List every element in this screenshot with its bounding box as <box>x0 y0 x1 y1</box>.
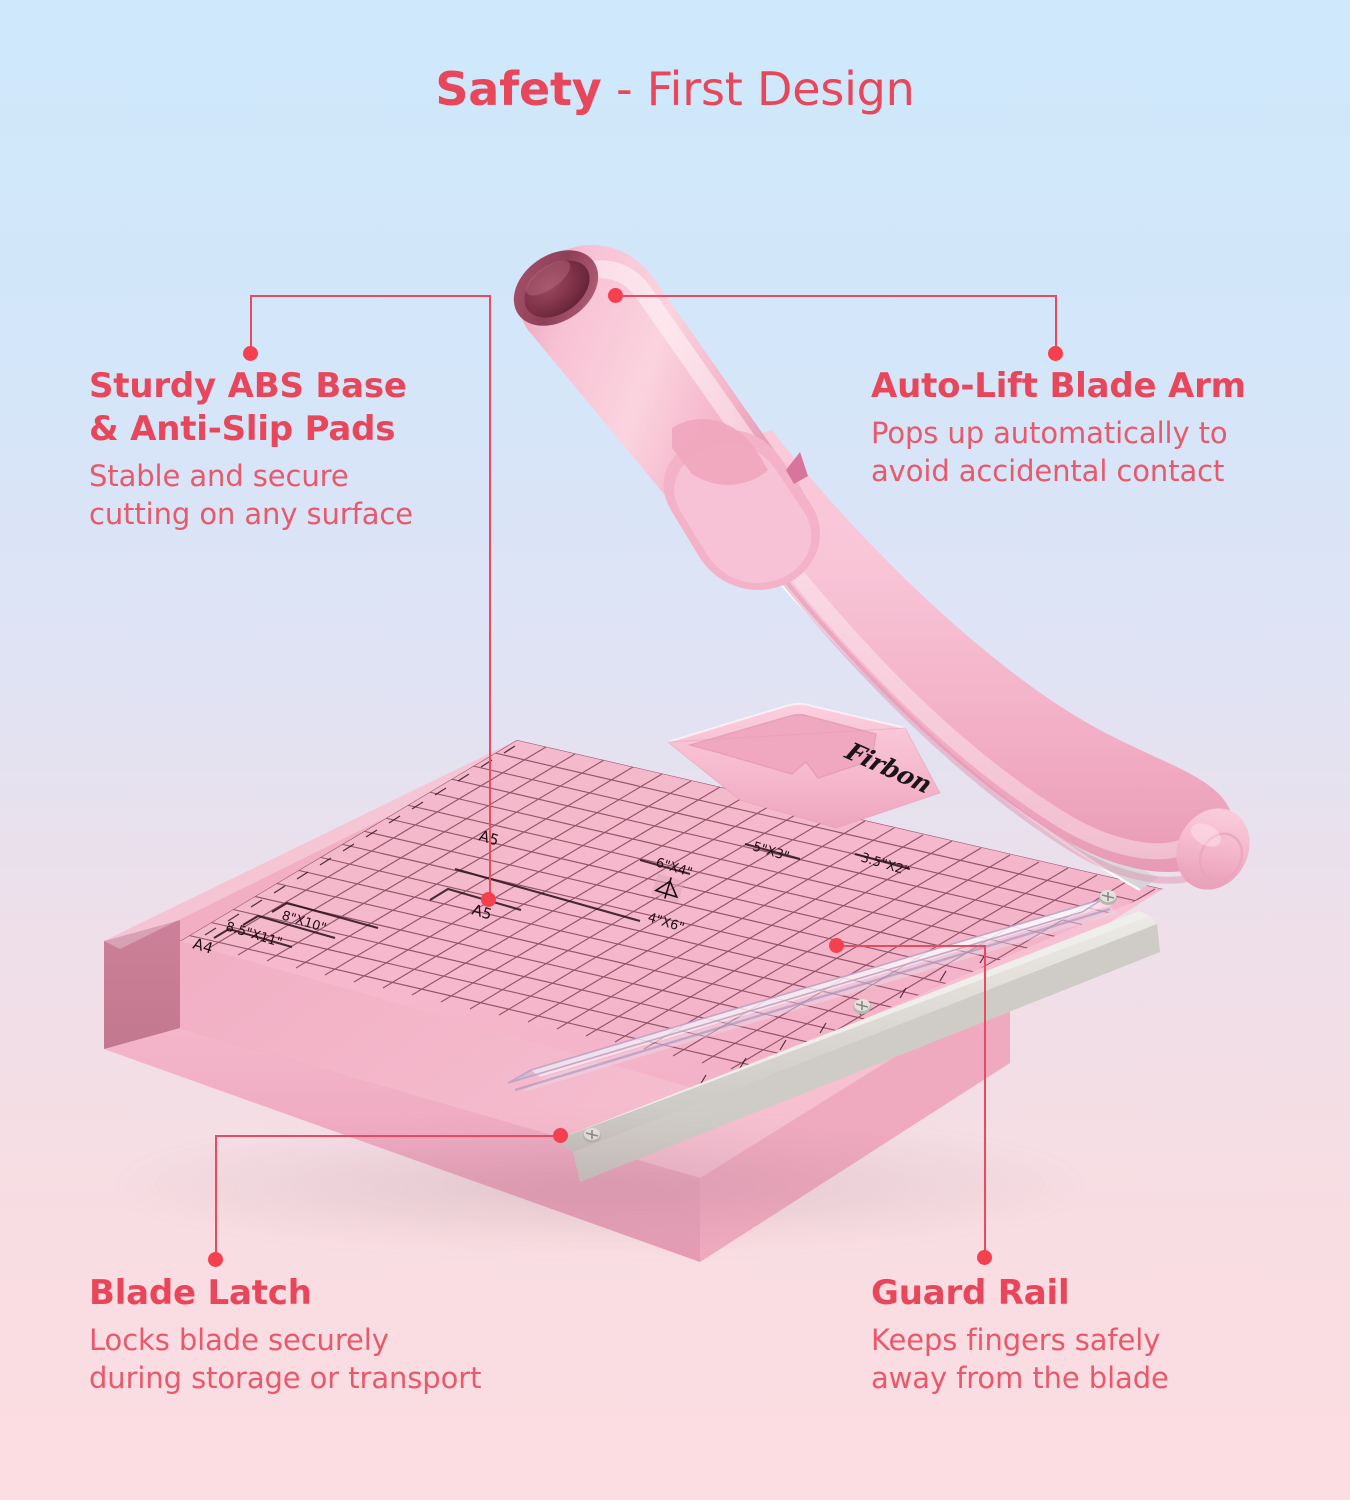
callout-dot-auto-lift-blade-arm <box>1048 346 1063 361</box>
callout-sturdy-abs-base: Sturdy ABS Base & Anti-Slip Pads Stable … <box>89 365 413 533</box>
product-shadow <box>120 1120 1080 1250</box>
callout-dot-sturdy-abs-base <box>243 346 258 361</box>
callout-guard-rail: Guard Rail Keeps fingers safely away fro… <box>871 1272 1169 1397</box>
callout-subtext-guard-rail: Keeps fingers safely away from the blade <box>871 1321 1169 1398</box>
leader-line-blade-latch <box>215 1135 563 1137</box>
callout-subtext-blade-latch: Locks blade securely during storage or t… <box>89 1321 481 1398</box>
callout-auto-lift-blade-arm: Auto-Lift Blade Arm Pops up automaticall… <box>871 365 1246 490</box>
leader-line-sturdy-abs-base-down <box>489 295 491 902</box>
leader-line-sturdy-abs-base-top <box>250 295 490 297</box>
leader-line-auto-lift-blade-arm <box>616 295 1056 297</box>
leader-line-auto-lift-blade-arm-down <box>1055 295 1057 353</box>
anchor-dot-guard-rail <box>829 938 844 953</box>
leader-line-blade-latch-down <box>215 1135 217 1260</box>
leader-line-guard-rail <box>836 945 985 947</box>
handle-grip <box>499 235 820 590</box>
callout-dot-guard-rail <box>977 1250 992 1265</box>
callout-subtext-auto-lift-blade-arm: Pops up automatically to avoid accidenta… <box>871 414 1246 491</box>
callout-heading-blade-latch: Blade Latch <box>89 1272 481 1315</box>
anchor-dot-blade-latch <box>553 1128 568 1143</box>
callout-blade-latch: Blade Latch Locks blade securely during … <box>89 1272 481 1397</box>
anchor-dot-abs-base <box>481 892 496 907</box>
leader-line-guard-rail-down <box>984 945 986 1258</box>
callout-heading-guard-rail: Guard Rail <box>871 1272 1169 1315</box>
anchor-dot-blade-arm <box>608 288 623 303</box>
callout-heading-auto-lift-blade-arm: Auto-Lift Blade Arm <box>871 365 1246 408</box>
callout-dot-blade-latch <box>208 1252 223 1267</box>
callout-subtext-sturdy-abs-base: Stable and secure cutting on any surface <box>89 457 413 534</box>
infographic-canvas: Safety - First Design <box>0 0 1350 1500</box>
callout-heading-sturdy-abs-base: Sturdy ABS Base & Anti-Slip Pads <box>89 365 413 451</box>
